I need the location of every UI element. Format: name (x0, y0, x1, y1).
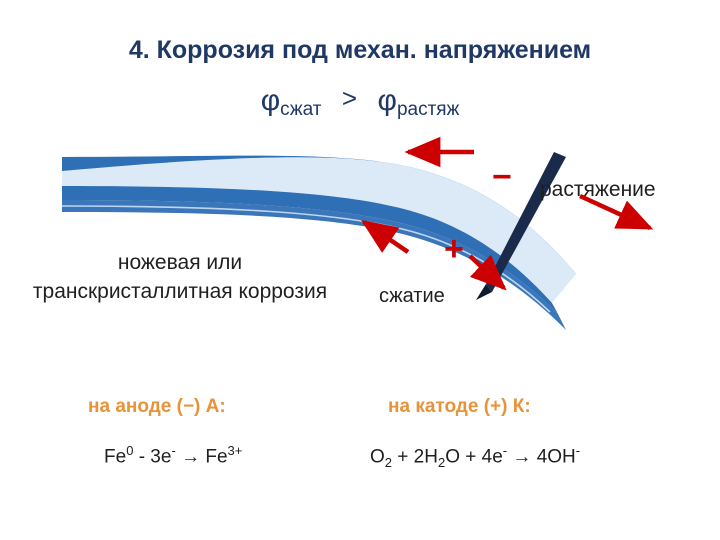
cathode-equation: O2 + 2H2O + 4e- → 4OH- (370, 443, 580, 470)
anode-eq-fe: Fe (104, 446, 126, 467)
anode-eq-minus3e: - 3e (133, 446, 171, 467)
cathode-eq-h: + 2H (392, 446, 438, 467)
anode-eq-fe3-sup: 3+ (228, 443, 243, 458)
compression-label: сжатие (379, 285, 445, 308)
anode-eq-arrow: → (176, 446, 206, 467)
minus-sign-label: − (492, 160, 512, 194)
anode-heading: на аноде (−) А: (88, 396, 226, 418)
tension-label: растяжение (540, 178, 656, 202)
cathode-eq-o: O (370, 446, 385, 467)
anode-equation: Fe0 - 3e- → Fe3+ (104, 443, 242, 468)
cathode-eq-arrow: → (507, 446, 537, 467)
slide-canvas: 4. Коррозия под механ. напряжением φсжат… (0, 0, 720, 540)
cathode-eq-oh-sup: - (576, 443, 580, 458)
cathode-eq-o4e: O + 4e (445, 446, 503, 467)
corrosion-type-label: ножевая или транскристаллитная коррозия (30, 248, 330, 306)
cathode-eq-oh: 4OH (537, 446, 576, 467)
cathode-eq-o-sub: 2 (385, 455, 392, 470)
anode-eq-fe3: Fe (205, 446, 227, 467)
cathode-heading: на катоде (+) К: (388, 396, 531, 418)
plus-sign-label: + (444, 232, 464, 266)
